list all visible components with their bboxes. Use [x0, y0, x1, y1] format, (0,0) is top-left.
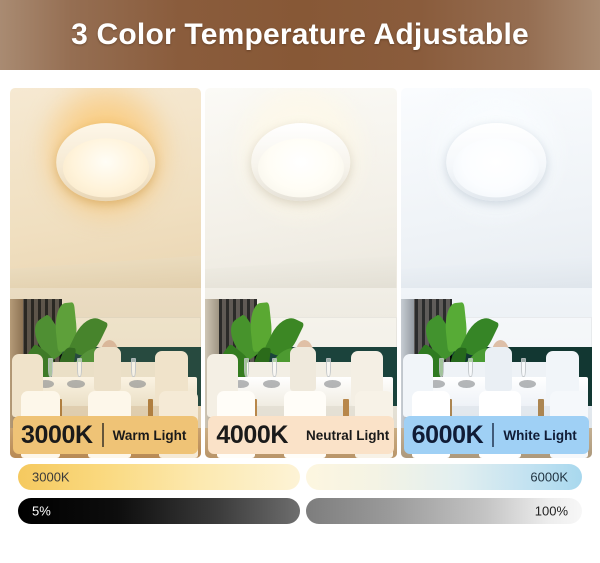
color-temperature-panels: 3000K Warm Light — [10, 88, 592, 458]
wine-glass — [244, 358, 249, 377]
temperature-scale[interactable]: 3000K 6000K — [18, 464, 582, 490]
kelvin-value: 3000K — [21, 421, 93, 450]
light-name: Warm Light — [113, 428, 187, 443]
temperature-start-label: 3000K — [32, 470, 70, 485]
dimming-scale-left[interactable]: 5% — [18, 498, 300, 524]
wine-glass — [48, 358, 53, 377]
dining-chair — [290, 347, 317, 391]
light-name: Neutral Light — [306, 428, 389, 443]
temperature-end-label: 6000K — [530, 470, 568, 485]
wine-glass — [326, 358, 331, 377]
badge-divider — [102, 423, 104, 447]
lamp-lens — [453, 138, 539, 197]
badge-3000k: 3000K Warm Light — [13, 416, 198, 454]
room-photo-6000k — [401, 88, 592, 458]
wine-glass — [439, 358, 444, 377]
badge-divider — [492, 423, 494, 447]
lamp-lens — [63, 138, 149, 197]
kelvin-value: 4000K — [216, 421, 288, 450]
wine-glass — [131, 358, 136, 377]
dining-chair — [94, 347, 121, 391]
room-photo-4000k — [205, 88, 396, 458]
panel-3000k[interactable]: 3000K Warm Light — [10, 88, 201, 458]
wine-glass — [468, 358, 473, 377]
bottom-scales: 3000K 6000K 5% 100% — [0, 464, 600, 532]
light-name: White Light — [503, 428, 576, 443]
panel-4000k[interactable]: 4000K Neutral Light — [205, 88, 396, 458]
panel-6000k[interactable]: 6000K White Light — [401, 88, 592, 458]
dimming-scale[interactable]: 5% 100% — [18, 498, 582, 524]
temperature-scale-left[interactable]: 3000K — [18, 464, 300, 490]
dimming-scale-right[interactable]: 100% — [306, 498, 582, 524]
room-photo-3000k — [10, 88, 201, 458]
dimming-start-label: 5% — [32, 504, 51, 519]
wine-glass — [272, 358, 277, 377]
dimming-end-label: 100% — [535, 504, 568, 519]
badge-6000k: 6000K White Light — [404, 416, 589, 454]
lamp-lens — [258, 138, 344, 197]
header-banner: 3 Color Temperature Adjustable — [0, 0, 600, 70]
wine-glass — [77, 358, 82, 377]
page-title: 3 Color Temperature Adjustable — [71, 18, 529, 52]
wine-glass — [521, 358, 526, 377]
badge-4000k: 4000K Neutral Light — [208, 416, 393, 454]
dining-chair — [485, 347, 512, 391]
kelvin-value: 6000K — [412, 421, 484, 450]
temperature-scale-right[interactable]: 6000K — [306, 464, 582, 490]
